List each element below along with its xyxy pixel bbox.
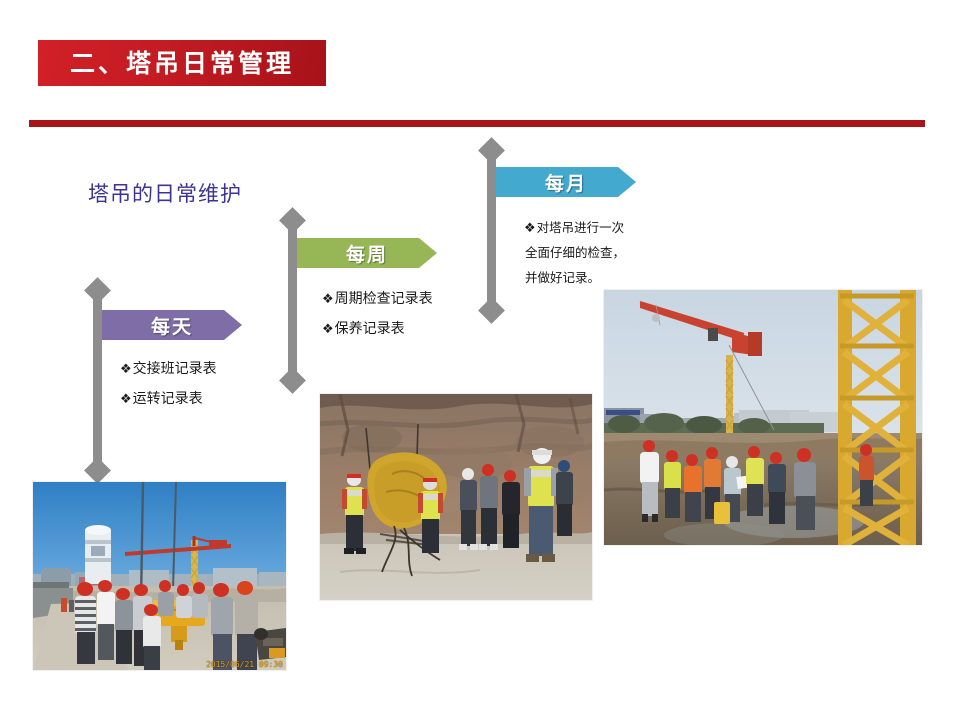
bullet-text: 对塔吊进行一次: [537, 220, 625, 235]
signpost-cap-bottom-monthly: [478, 297, 505, 324]
photo-timestamp: 2015/06/21 09:30: [206, 660, 283, 669]
photo-weekly-image: [320, 394, 592, 600]
photo-daily-image: [33, 482, 286, 670]
bullet-item: ❖交接班记录表: [120, 362, 217, 376]
bullet-text: 交接班记录表: [133, 361, 217, 377]
signpost-cap-top-daily: [84, 277, 111, 304]
photo-daily: 2015/06/21 09:30: [33, 482, 286, 670]
title-divider-rule: [29, 120, 925, 127]
photo-weekly: [320, 394, 592, 600]
bullet-text: 全面仔细的检查，: [525, 245, 625, 260]
signpost-label-weekly: 每周: [346, 240, 388, 267]
page-title: 二、塔吊日常管理: [70, 51, 294, 76]
signpost-flag-weekly: 每周: [297, 238, 437, 268]
bullet-text: 运转记录表: [133, 391, 203, 407]
bullet-item: 并做好记录。: [524, 272, 625, 285]
signpost-cap-bottom-daily: [84, 457, 111, 484]
subtitle-text: 塔吊的日常维护: [88, 178, 242, 208]
bullet-item: ❖对塔吊进行一次: [524, 222, 625, 235]
bullet-marker-icon: ❖: [120, 392, 132, 407]
bullet-text: 周期检查记录表: [335, 291, 433, 307]
bullet-marker-icon: ❖: [322, 322, 334, 337]
slide-canvas: 二、塔吊日常管理 塔吊的日常维护 每天 ❖交接班记录表 ❖运转记录表: [0, 0, 960, 720]
bullet-marker-icon: ❖: [120, 362, 132, 377]
bullet-text: 并做好记录。: [525, 270, 600, 285]
bullet-list-weekly: ❖周期检查记录表 ❖保养记录表: [322, 292, 433, 336]
bullet-item: 全面仔细的检查，: [524, 247, 625, 260]
photo-monthly-image: [604, 290, 922, 545]
signpost-label-daily: 每天: [151, 312, 193, 339]
signpost-cap-bottom-weekly: [279, 367, 306, 394]
signpost-flag-daily: 每天: [102, 310, 242, 340]
signpost-cap-top-weekly: [279, 207, 306, 234]
bullet-item: ❖运转记录表: [120, 392, 217, 406]
signpost-pole-weekly: [288, 220, 297, 380]
signpost-cap-top-monthly: [478, 137, 505, 164]
bullet-item: ❖保养记录表: [322, 322, 433, 336]
bullet-list-daily: ❖交接班记录表 ❖运转记录表: [120, 362, 217, 406]
bullet-marker-icon: ❖: [524, 221, 536, 236]
signpost-flag-monthly: 每月: [496, 167, 636, 197]
section-title-banner: 二、塔吊日常管理: [38, 40, 326, 86]
bullet-text: 保养记录表: [335, 321, 405, 337]
signpost-label-monthly: 每月: [545, 169, 587, 196]
photo-monthly: [604, 290, 922, 545]
bullet-item: ❖周期检查记录表: [322, 292, 433, 306]
signpost-pole-daily: [93, 290, 102, 470]
bullet-marker-icon: ❖: [322, 292, 334, 307]
signpost-pole-monthly: [487, 150, 496, 310]
bullet-list-monthly: ❖对塔吊进行一次 全面仔细的检查， 并做好记录。: [524, 222, 625, 297]
